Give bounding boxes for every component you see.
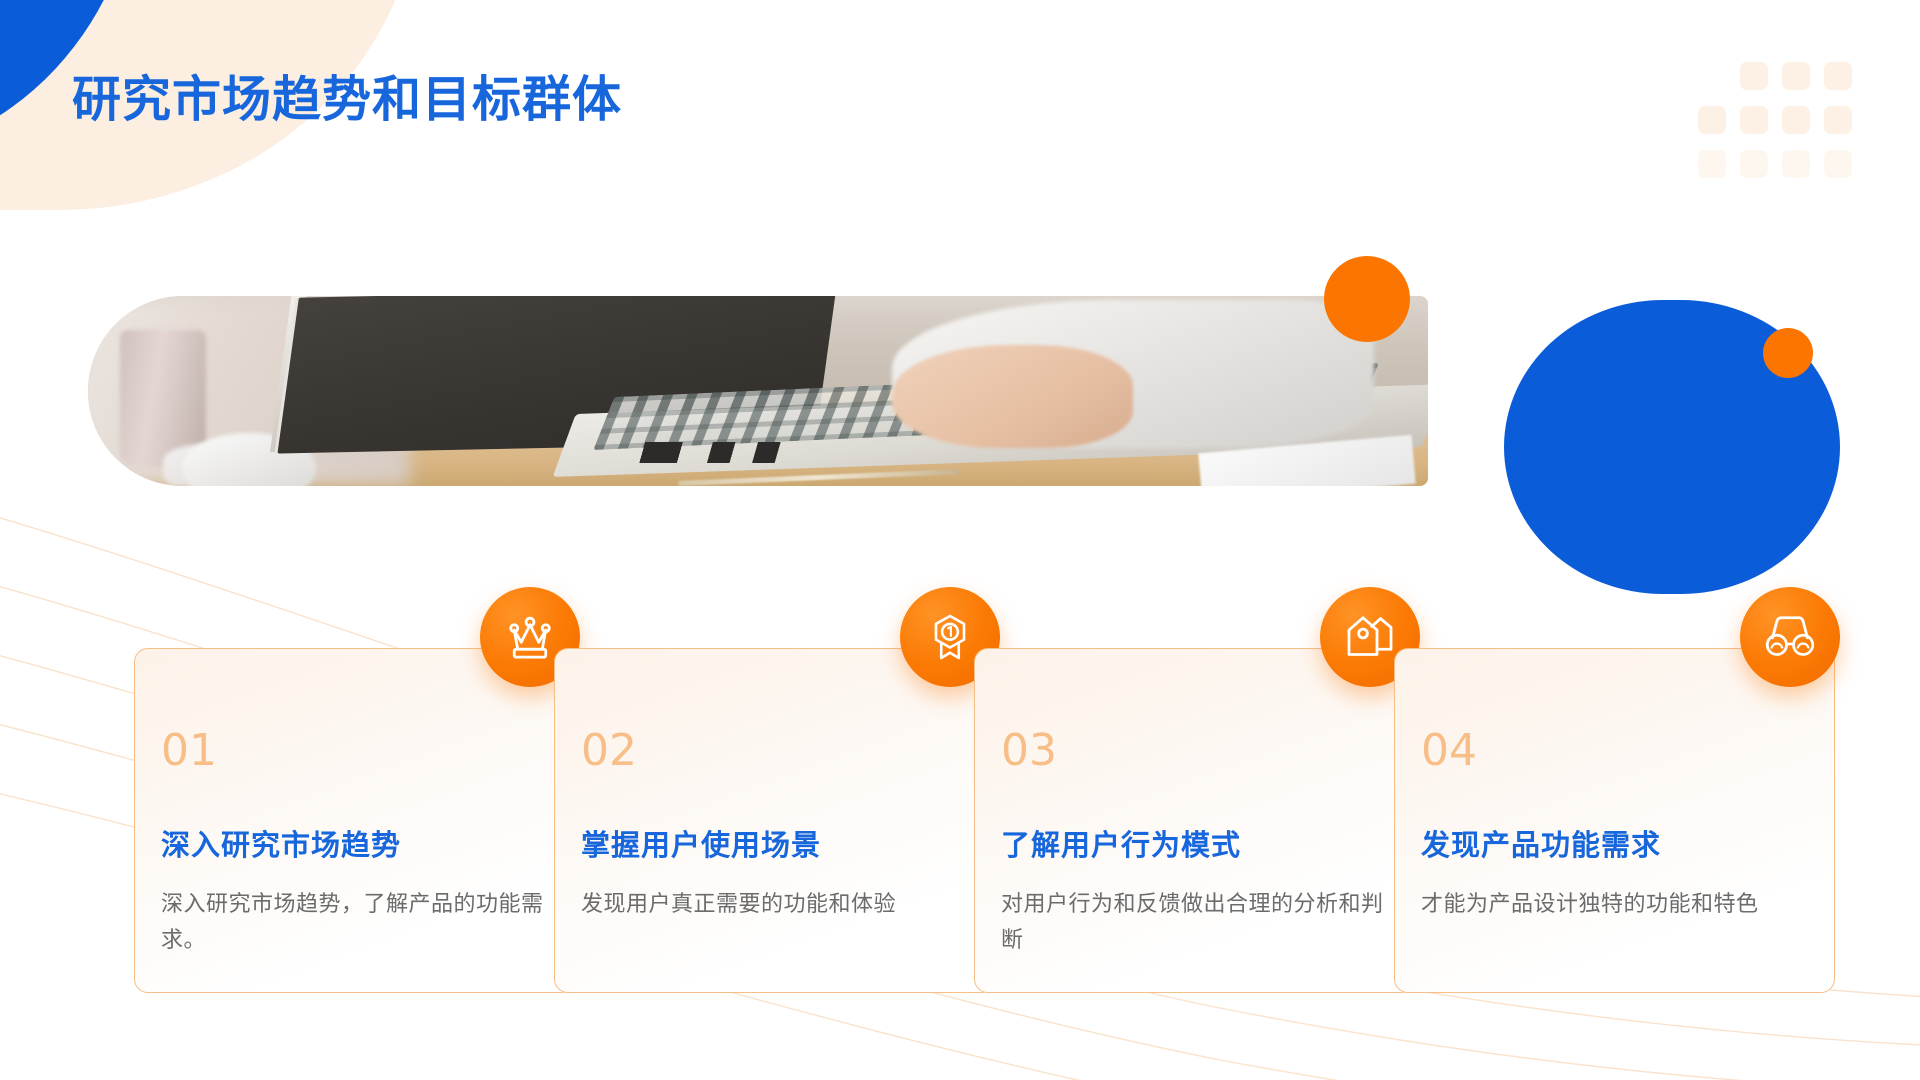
card-number: 04 — [1421, 725, 1814, 776]
card-title: 了解用户行为模式 — [1001, 822, 1394, 864]
card-number: 02 — [581, 725, 974, 776]
dot-square — [1740, 106, 1768, 134]
card-description: 深入研究市场趋势，了解产品的功能需求。 — [161, 886, 554, 957]
dot-square — [1740, 62, 1768, 90]
binoculars-icon — [1740, 587, 1840, 687]
card-title: 深入研究市场趋势 — [161, 822, 554, 864]
dot-square — [1740, 150, 1768, 178]
card-number: 03 — [1001, 725, 1394, 776]
card-description: 发现用户真正需要的功能和体验 — [581, 886, 974, 922]
card-number: 01 — [161, 725, 554, 776]
dot-square — [1698, 62, 1726, 90]
card-description: 才能为产品设计独特的功能和特色 — [1421, 886, 1814, 922]
dot-square — [1698, 106, 1726, 134]
feature-card[interactable]: 01 深入研究市场趋势 深入研究市场趋势，了解产品的功能需求。 — [134, 648, 575, 993]
feature-card[interactable]: 02 掌握用户使用场景 发现用户真正需要的功能和体验 — [554, 648, 995, 993]
orange-circle-icon — [1324, 256, 1410, 342]
hero-image-clip — [88, 296, 1428, 486]
orange-circle-icon — [1763, 328, 1813, 378]
feature-card[interactable]: 04 发现产品功能需求 才能为产品设计独特的功能和特色 — [1394, 648, 1835, 993]
card-title: 发现产品功能需求 — [1421, 822, 1814, 864]
card-description: 对用户行为和反馈做出合理的分析和判断 — [1001, 886, 1394, 957]
desk-laptop-photo — [88, 296, 1428, 486]
dot-square — [1782, 62, 1810, 90]
dot-square — [1782, 150, 1810, 178]
hero-image — [88, 296, 1428, 486]
dot-grid-decoration — [1698, 62, 1852, 178]
page-title: 研究市场趋势和目标群体 — [72, 60, 622, 131]
dot-square — [1824, 62, 1852, 90]
dot-square — [1824, 106, 1852, 134]
dot-square — [1782, 106, 1810, 134]
dot-square — [1824, 150, 1852, 178]
feature-card[interactable]: 03 了解用户行为模式 对用户行为和反馈做出合理的分析和判断 — [974, 648, 1415, 993]
card-title: 掌握用户使用场景 — [581, 822, 974, 864]
feature-card-list: 01 深入研究市场趋势 深入研究市场趋势，了解产品的功能需求。 02 掌握用户使… — [134, 648, 1814, 993]
dot-square — [1698, 150, 1726, 178]
